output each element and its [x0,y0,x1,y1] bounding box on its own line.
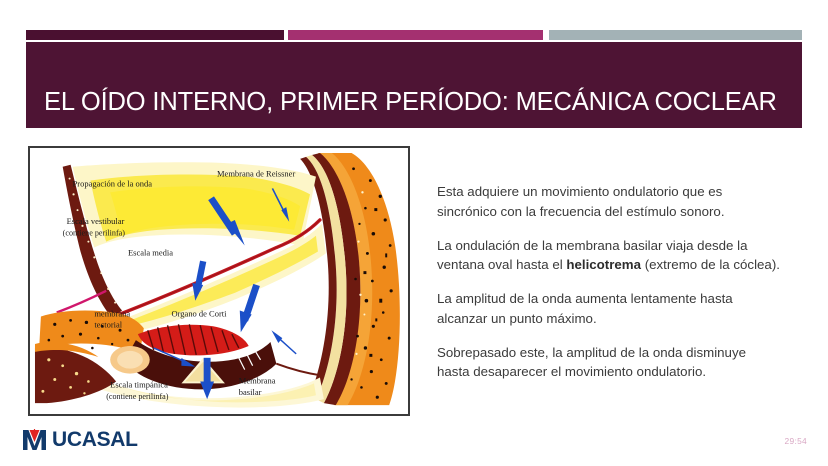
accent-segment-magenta [288,30,543,40]
accent-segment-dark-maroon [26,30,284,40]
label-membrana-tectorial-line1: membrana [94,308,130,318]
label-escala-timpanica-line2: (contiene perilinfa) [106,392,169,401]
paragraph-2: La ondulación de la membrana basilar via… [437,236,782,275]
timestamp-label: 29:54 [785,436,807,446]
paragraph-2-emphasis: helicotrema [566,257,641,272]
figure-frame: Propagación de la onda Escala vestibular… [28,146,410,416]
page-title: EL OÍDO INTERNO, PRIMER PERÍODO: MECÁNIC… [44,88,777,117]
label-escala-timpanica-line1: Escala timpánica [110,379,168,389]
label-membrana-basilar-line1: Membrana [239,375,276,385]
paragraph-4: Sobrepasado este, la amplitud de la onda… [437,343,782,382]
label-membrana-tectorial-line2: tectorial [94,319,122,329]
slide-canvas: EL OÍDO INTERNO, PRIMER PERÍODO: MECÁNIC… [0,0,828,466]
label-escala-vestibular-line2: (contiene perilinfa) [63,229,126,238]
label-propagacion-de-la-onda: Propagación de la onda [73,178,153,188]
label-membrana-basilar-line2: basilar [239,387,262,397]
body-text-column: Esta adquiere un movimiento ondulatorio … [437,182,782,382]
paragraph-3: La amplitud de la onda aumenta lentament… [437,289,782,328]
label-escala-vestibular-line1: Escala vestibular [67,216,125,226]
title-band: EL OÍDO INTERNO, PRIMER PERÍODO: MECÁNIC… [26,42,802,128]
cochlea-diagram-svg: Propagación de la onda Escala vestibular… [33,151,405,411]
label-organo-de-corti: Organo de Corti [172,308,228,318]
label-membrana-de-reissner: Membrana de Reissner [217,169,295,179]
paragraph-1: Esta adquiere un movimiento ondulatorio … [437,182,782,221]
label-escala-media: Escala media [128,247,173,257]
ucasal-logo: UCASAL [22,428,138,452]
paragraph-2-part-c: (extremo de la cóclea). [641,257,780,272]
accent-segment-gray [549,30,802,40]
top-accent-rule [26,30,802,40]
ucasal-shield-icon [22,429,47,451]
ucasal-wordmark: UCASAL [52,428,138,452]
cochlea-cross-section-diagram: Propagación de la onda Escala vestibular… [33,151,405,411]
